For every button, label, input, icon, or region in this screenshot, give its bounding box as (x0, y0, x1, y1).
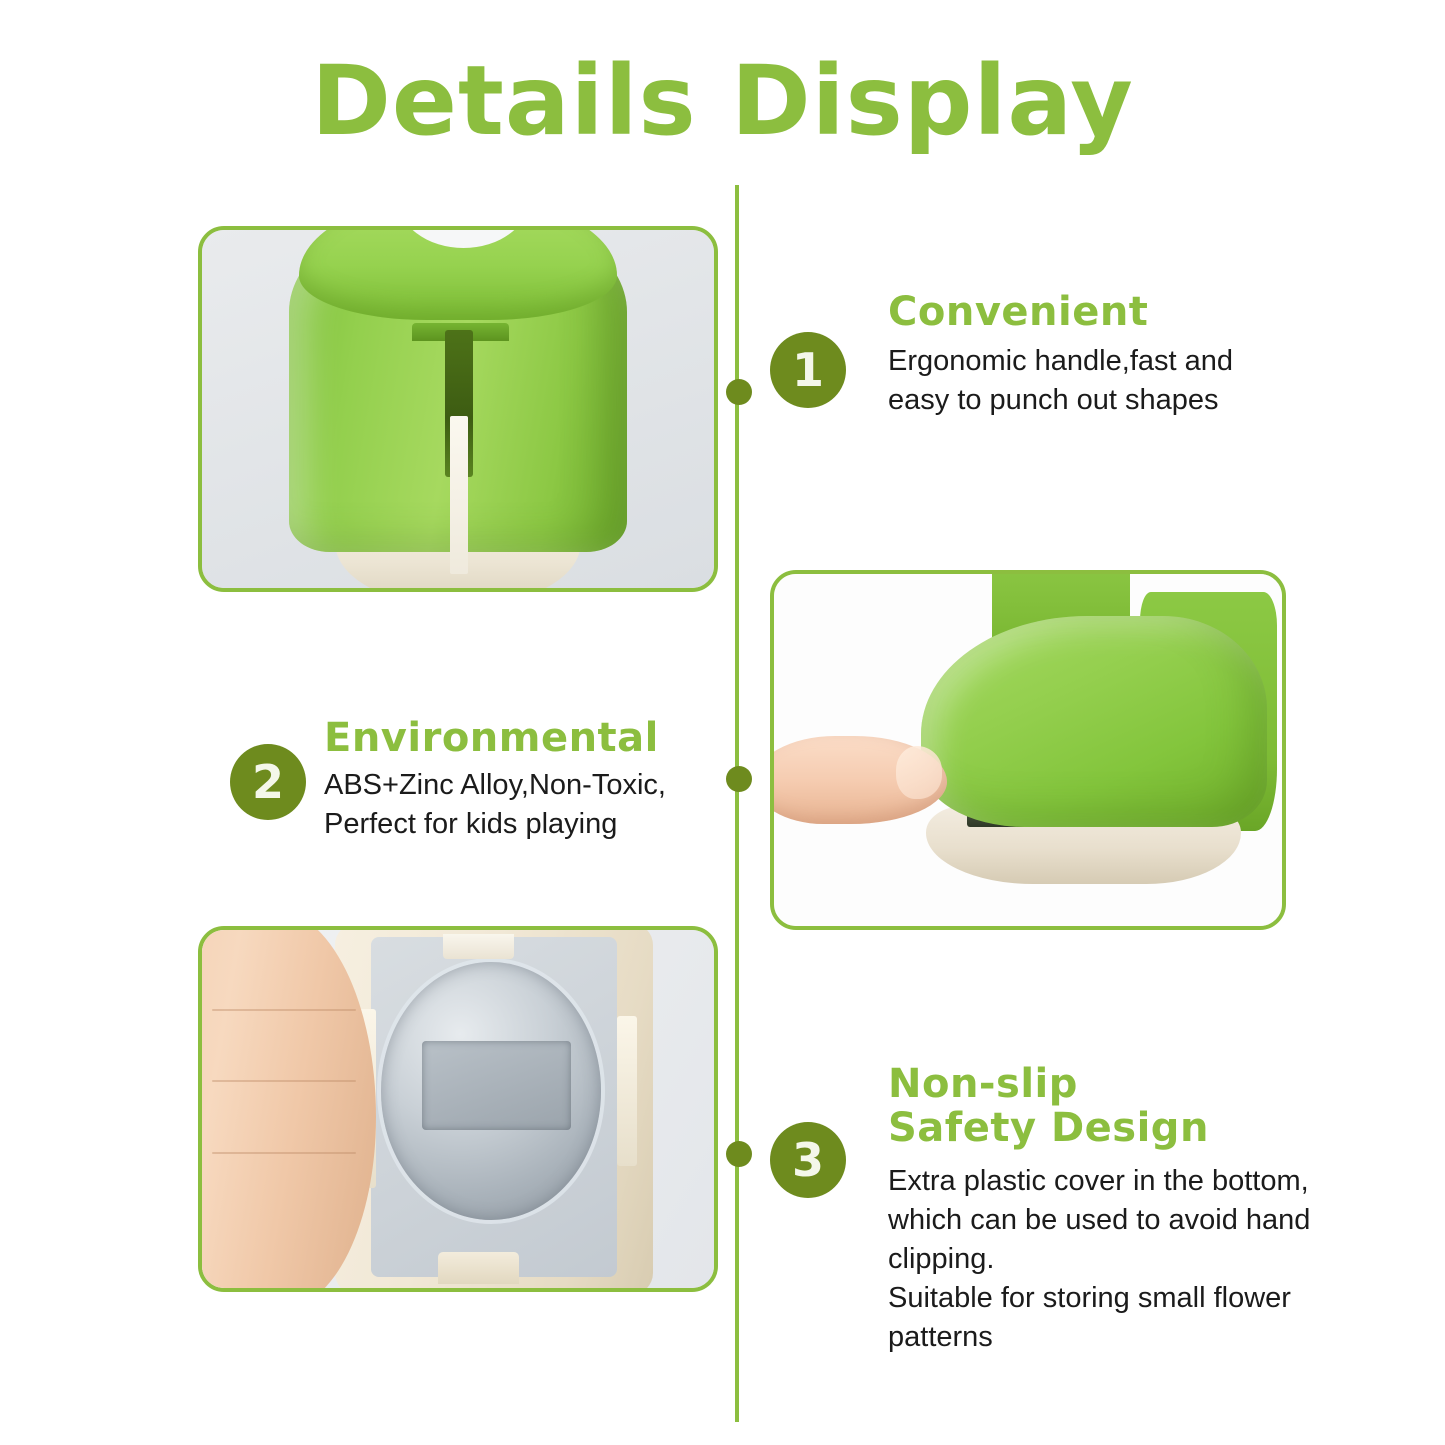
feature-badge-2: 2 (230, 744, 306, 820)
photo-hand-bottom (198, 926, 718, 1292)
metal-die-plate (422, 1041, 570, 1131)
punch-green-dome (921, 616, 1266, 827)
timeline-dot-3 (726, 1141, 752, 1167)
feature-block-2: 2 Environmental ABS+Zinc Alloy,Non-Toxic… (230, 716, 750, 844)
finger-crease-1 (212, 1009, 355, 1011)
punch-white-strip (450, 416, 468, 574)
feature-text-3: Non-slip Safety Design Extra plastic cov… (888, 1062, 1350, 1357)
page-title: Details Display (0, 46, 1445, 156)
finger-crease-3 (212, 1152, 355, 1154)
photo-finger-press (770, 570, 1286, 930)
plastic-clip-top (443, 934, 515, 959)
feature-badge-1: 1 (770, 332, 846, 408)
feature-block-1: 1 Convenient Ergonomic handle,fast and e… (770, 290, 1330, 420)
feature-heading-2: Environmental (324, 716, 750, 760)
feature-block-3: 3 Non-slip Safety Design Extra plastic c… (770, 1062, 1350, 1357)
feature-badge-3: 3 (770, 1122, 846, 1198)
plastic-clip-bottom (438, 1252, 520, 1284)
infographic-page: Details Display (0, 0, 1445, 1445)
feature-body-2: ABS+Zinc Alloy,Non-Toxic, Perfect for ki… (324, 766, 750, 844)
timeline-dot-1 (726, 379, 752, 405)
feature-text-2: Environmental ABS+Zinc Alloy,Non-Toxic, … (324, 716, 750, 844)
feature-heading-1: Convenient (888, 290, 1330, 334)
photo-punch-front (198, 226, 718, 592)
hand (202, 930, 376, 1288)
fingernail (896, 746, 942, 799)
feature-heading-3: Non-slip Safety Design (888, 1062, 1350, 1150)
feature-text-1: Convenient Ergonomic handle,fast and eas… (888, 290, 1330, 420)
shell-rib-right (617, 1016, 637, 1166)
photo-finger-press-image (774, 574, 1282, 926)
photo-hand-bottom-image (202, 930, 714, 1288)
feature-body-1: Ergonomic handle,fast and easy to punch … (888, 342, 1330, 420)
photo-punch-front-image (202, 230, 714, 588)
feature-body-3: Extra plastic cover in the bottom, which… (888, 1162, 1350, 1357)
